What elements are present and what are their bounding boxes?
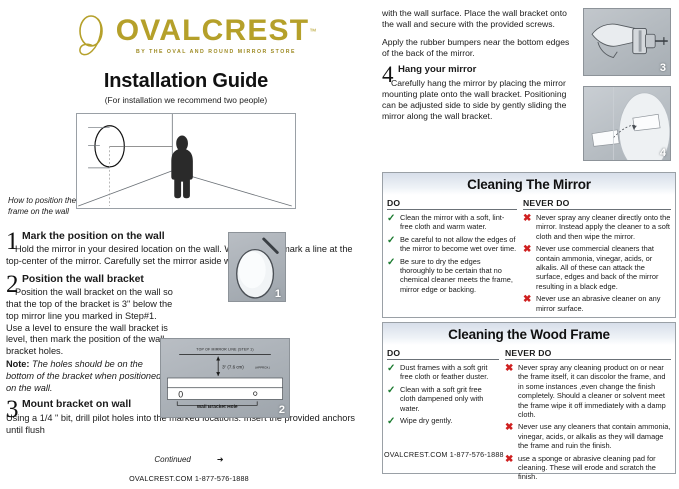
- panel-mirror-columns: DO ✓Clean the mirror with a soft, lint-f…: [383, 195, 675, 316]
- intro-paragraph-2: Apply the rubber bumpers near the bottom…: [382, 37, 570, 60]
- cross-icon: ✖: [523, 244, 536, 291]
- panel-frame-title: Cleaning the Wood Frame: [448, 327, 610, 342]
- brand-tagline: BY THE OVAL AND ROUND MIRROR STORE: [116, 49, 317, 55]
- list-item-text: Clean with a soft grit free cloth dampen…: [400, 385, 499, 413]
- check-icon: ✓: [387, 363, 400, 382]
- photo-hanging-mirror: 4: [583, 86, 671, 161]
- cross-icon: ✖: [505, 422, 518, 450]
- cross-icon: ✖: [523, 294, 536, 313]
- check-icon: ✓: [387, 235, 400, 254]
- step-1-heading: Mark the position on the wall: [6, 231, 368, 242]
- panel-mirror-do-label: DO: [387, 198, 517, 210]
- panel-mirror-do-list: ✓Clean the mirror with a soft, lint-free…: [387, 213, 517, 294]
- step-4: 4 Hang your mirror Carefully hang the mi…: [382, 65, 578, 122]
- list-item: ✓Be careful to not allow the edges of th…: [387, 235, 517, 254]
- photo-2-number: 2: [279, 404, 285, 416]
- cross-icon: ✖: [505, 363, 518, 419]
- page-title: Installation Guide: [4, 70, 368, 93]
- list-item: ✖Never use any cleaners that contain amm…: [505, 422, 671, 450]
- panel-frame-header: Cleaning the Wood Frame: [383, 323, 675, 345]
- list-item-text: Clean the mirror with a soft, lint-free …: [400, 213, 517, 232]
- step-3-number: 3: [6, 397, 19, 422]
- room-figure-caption: How to position theframe on the wall: [8, 196, 100, 218]
- step-1-body: Hold the mirror in your desired location…: [6, 244, 368, 268]
- panel-frame-do-list: ✓Dust frames with a soft grit free cloth…: [387, 363, 499, 427]
- check-icon: ✓: [387, 213, 400, 232]
- panel-mirror-never-column: NEVER DO ✖Never spray any cleaner direct…: [523, 198, 671, 316]
- note-text: The holes should be on the bottom of the…: [6, 359, 161, 393]
- step-4-number: 4: [382, 63, 394, 86]
- check-icon: ✓: [387, 257, 400, 295]
- right-intro-text: with the wall surface. Place the wall br…: [382, 8, 570, 59]
- continued-label: Continued: [154, 455, 190, 464]
- trademark-symbol: ™: [309, 28, 316, 35]
- step-4-heading: Hang your mirror: [382, 65, 578, 76]
- list-item-text: Never spray any cleaner directly onto th…: [536, 213, 671, 241]
- list-item: ✖Never spray any cleaner directly onto t…: [523, 213, 671, 241]
- panel-frame-columns: DO ✓Dust frames with a soft grit free cl…: [383, 345, 675, 485]
- list-item: ✓Be sure to dry the edges thoroughly to …: [387, 257, 517, 295]
- list-item-text: Be sure to dry the edges thoroughly to b…: [400, 257, 517, 295]
- step-1-number: 1: [6, 229, 19, 254]
- list-item-text: Never use any cleaners that contain ammo…: [518, 422, 671, 450]
- panel-mirror-header: Cleaning The Mirror: [383, 173, 675, 195]
- list-item-text: Never use commercial cleaners that conta…: [536, 244, 671, 291]
- step-4-paragraph: Carefully hang the mirror by placing the…: [382, 78, 578, 122]
- list-item-text: Dust frames with a soft grit free cloth …: [400, 363, 499, 382]
- svg-text:TOP OF MIRROR LINE (STEP 1): TOP OF MIRROR LINE (STEP 1): [196, 348, 253, 352]
- oval-script-logo-icon: [74, 13, 114, 57]
- svg-text:0: 0: [178, 390, 183, 400]
- list-item: ✖use a sponge or abrasive cleaning pad f…: [505, 454, 671, 482]
- step-2-heading: Position the wall bracket: [6, 274, 368, 285]
- footer-right: OVALCREST.COM 1-877-576-1888: [384, 450, 504, 459]
- list-item-text: use a sponge or abrasive cleaning pad fo…: [518, 454, 671, 482]
- check-icon: ✓: [387, 416, 400, 427]
- panel-mirror-title: Cleaning The Mirror: [467, 177, 591, 192]
- step-2-note: Note: The holes should be on the bottom …: [6, 359, 173, 394]
- step-2-body: Position the wall bracket on the wall so…: [6, 287, 173, 394]
- brand-name: OVALCREST: [116, 14, 310, 47]
- panel-frame-never-label: NEVER DO: [505, 348, 671, 360]
- step-2-paragraph: Position the wall bracket on the wall so…: [6, 287, 173, 358]
- diagram-wall-bracket-measurement: TOP OF MIRROR LINE (STEP 1) 3" (7.6 cm) …: [160, 338, 290, 418]
- step-1-paragraph: Hold the mirror in your desired location…: [6, 244, 368, 268]
- list-item-text: Be careful to not allow the edges of the…: [400, 235, 517, 254]
- step-1: 1 Mark the position on the wall Hold the…: [6, 231, 368, 268]
- page-subtitle: (For installation we recommend two peopl…: [4, 95, 368, 105]
- svg-text:Wall Bracket Hole: Wall Bracket Hole: [197, 404, 238, 410]
- panel-frame-never-column: NEVER DO ✖Never spray any cleaning produ…: [505, 348, 671, 485]
- panel-mirror-do-column: DO ✓Clean the mirror with a soft, lint-f…: [387, 198, 523, 316]
- photo-drilling-pilot-holes: 3: [583, 8, 671, 76]
- left-column: OVALCREST™ BY THE OVAL AND ROUND MIRROR …: [0, 0, 378, 489]
- panel-cleaning-the-mirror: Cleaning The Mirror DO ✓Clean the mirror…: [382, 172, 676, 318]
- photo-4-number: 4: [660, 147, 666, 159]
- panel-frame-never-list: ✖Never spray any cleaning product on or …: [505, 363, 671, 482]
- brand-logo: OVALCREST™ BY THE OVAL AND ROUND MIRROR …: [4, 6, 368, 64]
- step-2-number: 2: [6, 272, 19, 297]
- photo-3-number: 3: [660, 62, 666, 74]
- panel-mirror-never-label: NEVER DO: [523, 198, 671, 210]
- cross-icon: ✖: [505, 454, 518, 482]
- list-item: ✖Never use an abrasive cleaner on any mi…: [523, 294, 671, 313]
- arrow-right-icon: ➜: [217, 455, 224, 464]
- photo-mirror-and-pencil: 1: [228, 232, 286, 302]
- check-icon: ✓: [387, 385, 400, 413]
- list-item: ✖Never use commercial cleaners that cont…: [523, 244, 671, 291]
- list-item: ✓Clean with a soft grit free cloth dampe…: [387, 385, 499, 413]
- photo-1-number: 1: [275, 288, 281, 300]
- list-item-text: Never spray any cleaning product on or n…: [518, 363, 671, 419]
- footer-left: OVALCREST.COM 1-877-576-1888: [0, 474, 378, 483]
- cross-icon: ✖: [523, 213, 536, 241]
- intro-paragraph-1: with the wall surface. Place the wall br…: [382, 8, 570, 31]
- list-item: ✓Clean the mirror with a soft, lint-free…: [387, 213, 517, 232]
- note-label: Note:: [6, 359, 29, 369]
- panel-frame-do-column: DO ✓Dust frames with a soft grit free cl…: [387, 348, 505, 485]
- list-item-text: Wipe dry gently.: [400, 416, 499, 427]
- list-item: ✖Never spray any cleaning product on or …: [505, 363, 671, 419]
- installation-guide-page: OVALCREST™ BY THE OVAL AND ROUND MIRROR …: [0, 0, 679, 489]
- svg-text:3" (7.6 cm): 3" (7.6 cm): [222, 364, 244, 369]
- svg-text:(APPROX.): (APPROX.): [255, 365, 270, 369]
- right-column: with the wall surface. Place the wall br…: [378, 0, 679, 489]
- panel-mirror-never-list: ✖Never spray any cleaner directly onto t…: [523, 213, 671, 313]
- list-item: ✓Dust frames with a soft grit free cloth…: [387, 363, 499, 382]
- continued-marker: Continued➜: [0, 455, 378, 464]
- panel-frame-do-label: DO: [387, 348, 499, 360]
- step-4-body: Carefully hang the mirror by placing the…: [382, 78, 578, 122]
- list-item-text: Never use an abrasive cleaner on any mir…: [536, 294, 671, 313]
- room-position-diagram: [76, 113, 296, 209]
- list-item: ✓Wipe dry gently.: [387, 416, 499, 427]
